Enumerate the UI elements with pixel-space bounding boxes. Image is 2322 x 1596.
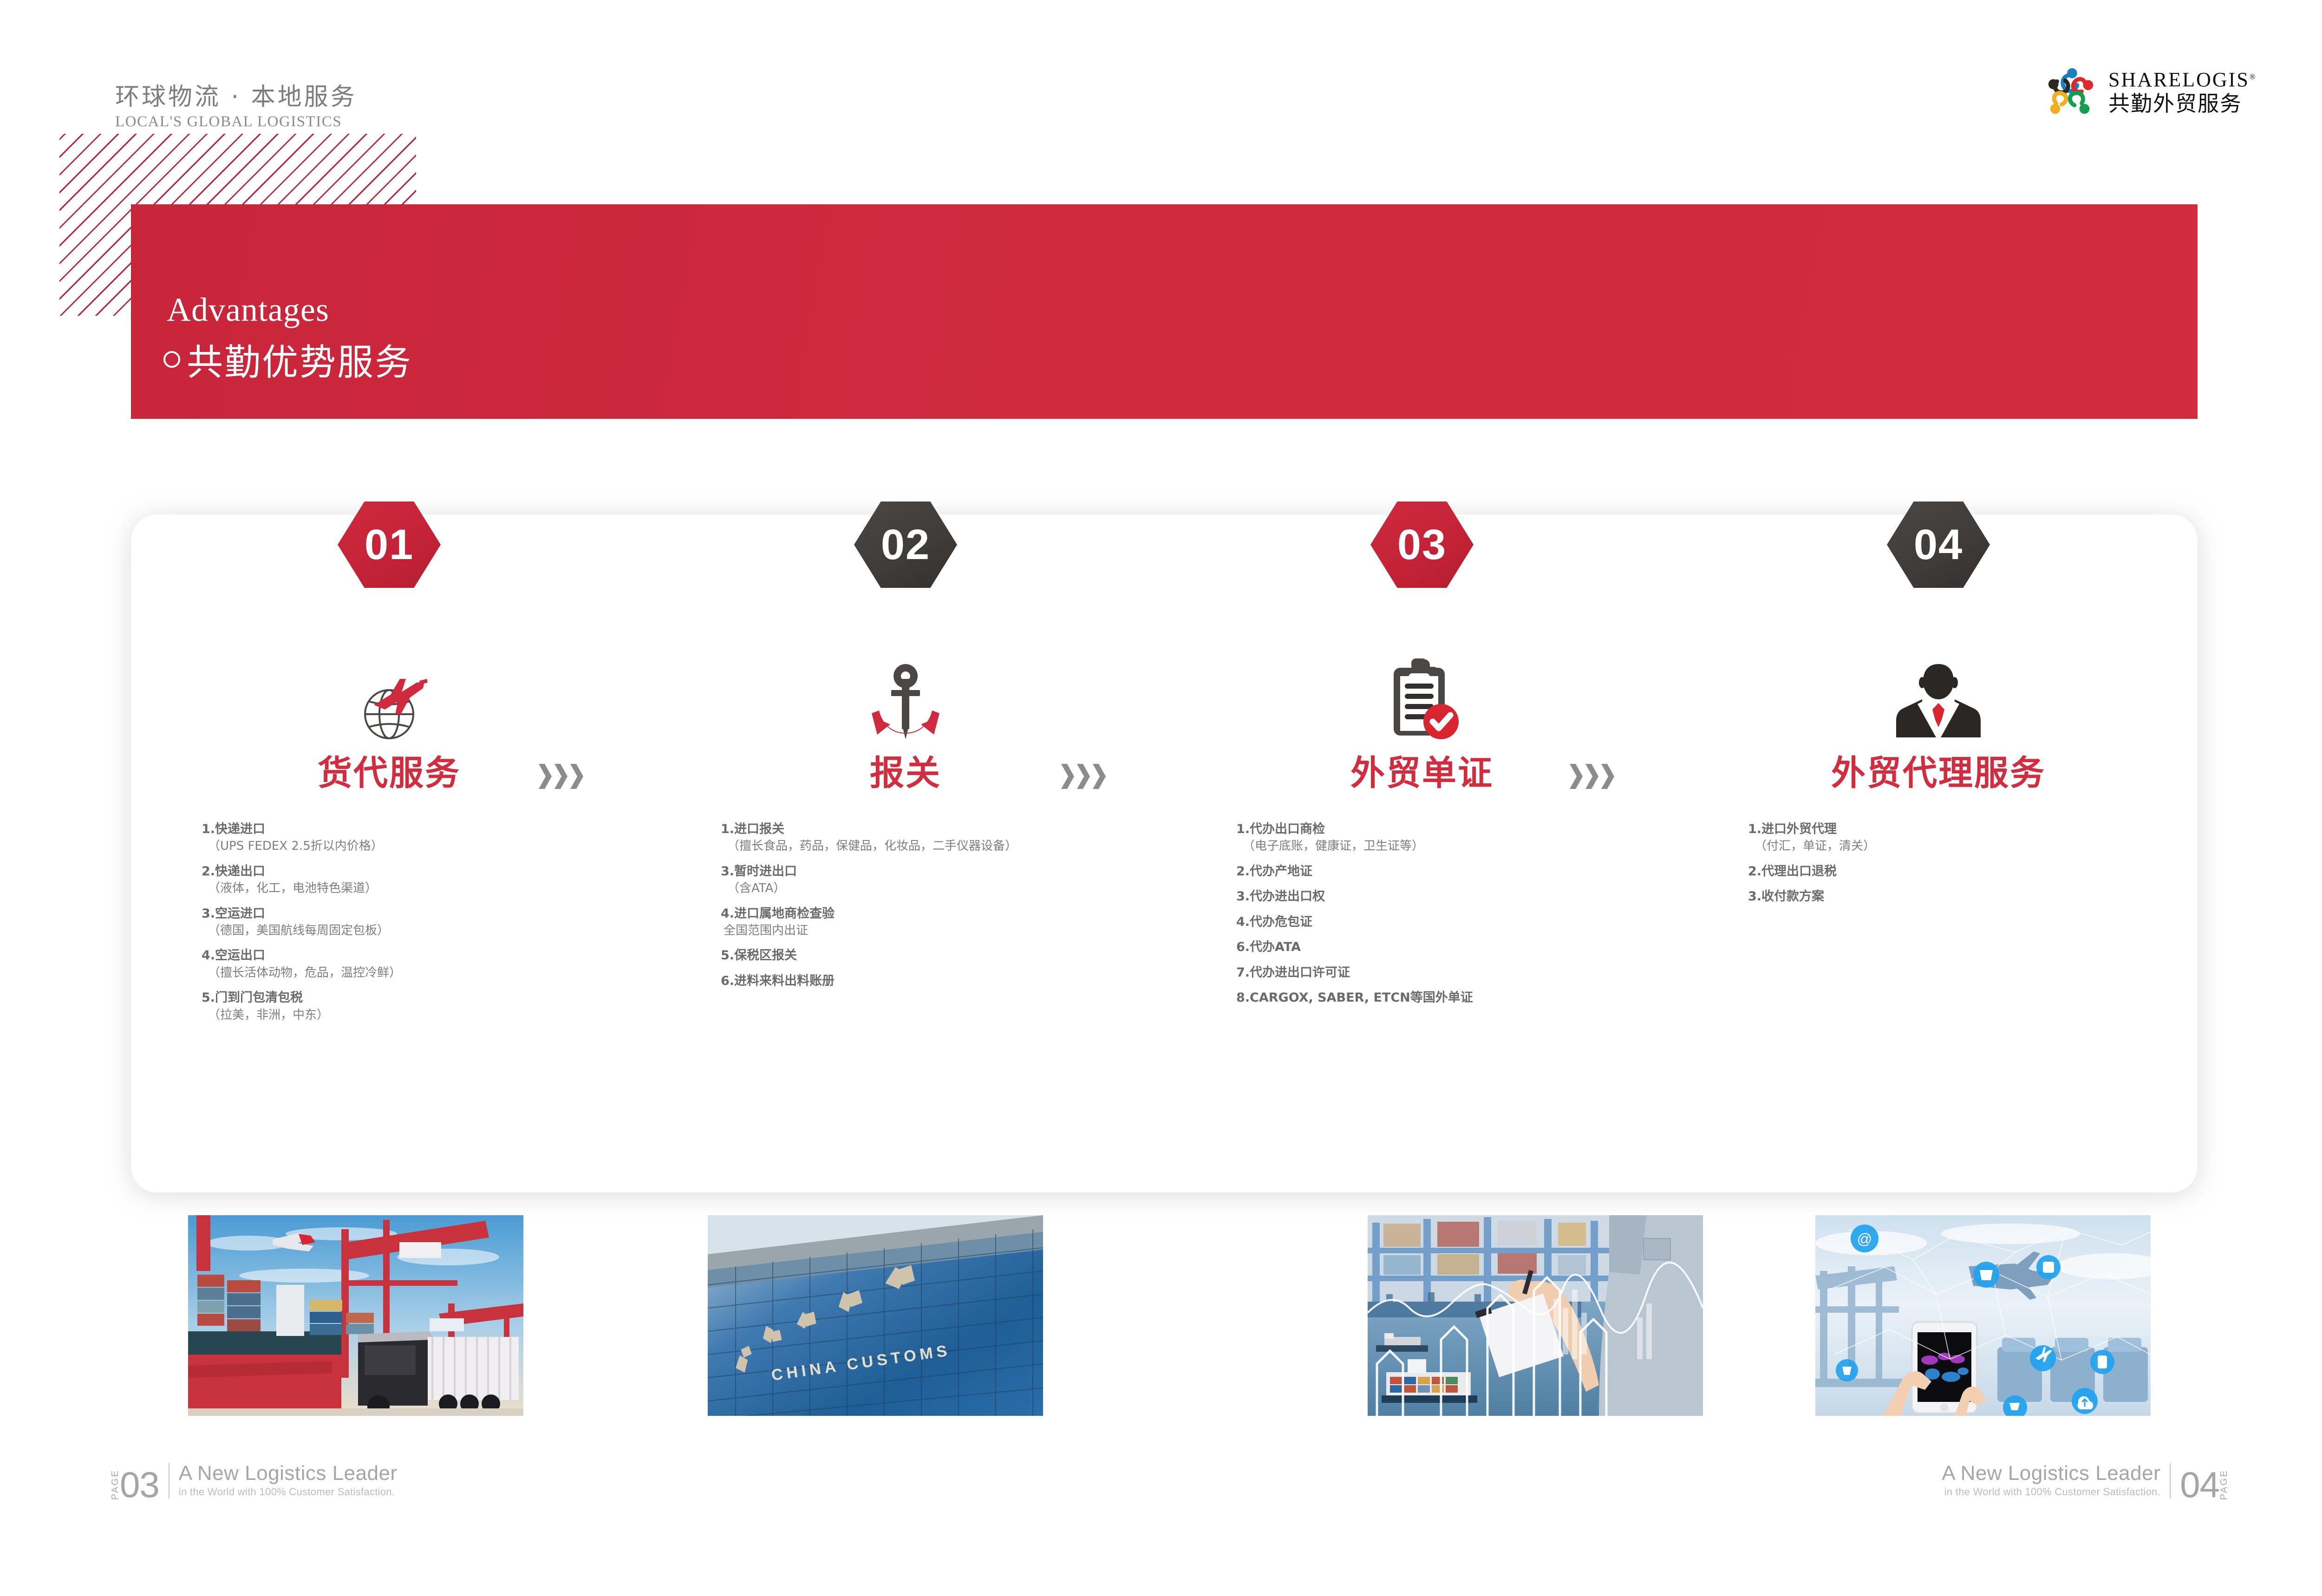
list-item: 4.空运出口 （擅长活体动物，危品，温控冷鲜） [202,947,647,981]
column-bullets-2: 1.进口报关 （擅长食品，药品，保健品，化妆品，二手仪器设备） 3.暂时进出口 … [647,821,1164,990]
list-item: 1.进口外贸代理 （付汇，单证，清关） [1748,821,2197,855]
bullet-main: 2.快递出口 [202,863,647,880]
list-item: 1.快递进口 （UPS FEDEX 2.5折以内价格） [202,821,647,855]
bullet-main: 4.空运出口 [202,947,647,964]
chevron-right-icon [554,764,567,789]
footer-slogan-line2-right: in the World with 100% Customer Satisfac… [1942,1486,2160,1498]
list-item: 7.代办进出口许可证 [1236,964,1680,981]
header-tagline: 环球物流 · 本地服务 LOCAL'S GLOBAL LOGISTICS [115,84,357,130]
chevron-right-icon [1601,764,1614,789]
step-badge-wrap-4: 04 [1680,502,2197,608]
list-item: 3.代办进出口权 [1236,888,1680,905]
footer-slogan-right: A New Logistics Leader in the World with… [1942,1463,2160,1500]
footer-page-number-left: 03 [120,1469,159,1500]
advantage-column-3: 03 [1164,502,1680,1015]
airplane-globe-icon [345,655,433,743]
chevron-right-icon [570,764,583,789]
bullet-main: 1.代办出口商检 [1236,821,1680,838]
bullet-sub: （擅长食品，药品，保健品，化妆品，二手仪器设备） [721,838,1164,854]
column-icon-1 [131,645,647,743]
step-badge-1[interactable]: 01 [338,502,441,588]
bullet-main: 4.代办危包证 [1236,914,1680,931]
bullet-main: 2.代理出口退税 [1748,863,2197,880]
anchor-icon [861,655,950,743]
list-item: 4.代办危包证 [1236,914,1680,931]
advantage-column-4: 04 外贸代理服务 1.进口外贸代理 （付汇，单证，清关） [1680,502,2197,914]
footer-slogan-left: A New Logistics Leader in the World with… [179,1463,398,1500]
list-item: 3.暂时进出口 （含ATA） [721,863,1164,897]
step-badge-wrap-3: 03 [1164,502,1680,608]
bullet-sub: （拉美，非洲，中东） [202,1007,647,1023]
list-item: 5.门到门包清包税 （拉美，非洲，中东） [202,990,647,1023]
footer-left: PAGE 03 A New Logistics Leader in the Wo… [111,1463,398,1500]
list-item: 2.代办产地证 [1236,863,1680,880]
businessman-icon [1894,655,1983,743]
step-number-2: 02 [881,523,930,566]
section-banner: Advantages 共勤优势服务 [131,204,2198,419]
step-number-4: 04 [1914,523,1963,566]
logo-brand-cn: 共勤外贸服务 [2108,92,2257,116]
bullet-main: 4.进口属地商检查验 [721,905,1164,922]
header-tagline-en: LOCAL'S GLOBAL LOGISTICS [115,113,357,130]
column-icon-4 [1680,645,2197,743]
step-badge-3[interactable]: 03 [1370,502,1474,588]
list-item: 3.空运进口 （德国，美国航线每周固定包板） [202,905,647,939]
list-item: 4.进口属地商检查验 全国范围内出证 [721,905,1164,939]
bullet-sub: （擅长活体动物，危品，温控冷鲜） [202,964,647,981]
bullet-sub: 全国范围内出证 [721,922,1164,939]
footer-right: A New Logistics Leader in the World with… [1942,1463,2229,1500]
banner-title-cn: 共勤优势服务 [187,333,412,385]
bullet-main: 5.门到门包清包税 [202,990,647,1006]
at-sign-icon: @ [1857,1231,1872,1247]
bullet-main: 6.进料来料出料账册 [721,973,1164,990]
step-number-3: 03 [1397,523,1447,566]
step-badge-4[interactable]: 04 [1887,502,1990,588]
registered-mark-icon: ® [2250,72,2257,81]
step-badge-2[interactable]: 02 [854,502,957,588]
footer-page-number-right: 04 [2180,1469,2219,1500]
list-item: 5.保税区报关 [721,947,1164,964]
footer-slogan-line1-right: A New Logistics Leader [1942,1463,2160,1484]
bullet-main: 3.暂时进出口 [721,863,1164,880]
bullet-sub: （电子底账，健康证，卫生证等） [1236,838,1680,854]
bullet-main: 3.空运进口 [202,905,647,922]
bullet-main: 6.代办ATA [1236,939,1680,956]
advantage-columns: 01 货代服务 1.快递进口 （UPS [131,502,2198,1244]
footer-divider-left [169,1463,170,1498]
sharelogis-people-circle-icon [2043,65,2098,120]
list-item: 2.代理出口退税 [1748,863,2197,880]
step-number-1: 01 [365,523,414,566]
column-bullets-3: 1.代办出口商检 （电子底账，健康证，卫生证等） 2.代办产地证 3.代办进出口… [1164,821,1680,1006]
list-item: 1.进口报关 （擅长食品，药品，保健品，化妆品，二手仪器设备） [721,821,1164,855]
photo-china-customs-building: CHINA CUSTOMS [708,1215,1043,1416]
footer-slogan-line2-left: in the World with 100% Customer Satisfac… [179,1486,398,1498]
header-tagline-cn: 环球物流 · 本地服务 [115,84,357,111]
brand-logo: SHARELOGIS® 共勤外贸服务 [2043,65,2257,120]
bullet-sub: （付汇，单证，清关） [1748,838,2197,854]
bullet-main: 8.CARGOX, SABER, ETCN等国外单证 [1236,990,1680,1006]
column-title-4: 外贸代理服务 [1680,756,2197,790]
bullet-main: 2.代办产地证 [1236,863,1680,880]
bullet-main: 1.进口报关 [721,821,1164,838]
chevron-right-icon [539,764,552,789]
clipboard-check-icon [1378,655,1466,743]
step-badge-wrap-2: 02 [647,502,1164,608]
bullet-main: 5.保税区报关 [721,947,1164,964]
step-badge-wrap-1: 01 [131,502,647,608]
banner-title-cn-row: 共勤优势服务 [163,333,412,385]
banner-title-en: Advantages [167,291,329,329]
bullet-main: 3.收付款方案 [1748,888,2197,905]
circle-bullet-icon [163,351,180,368]
bullet-sub: （德国，美国航线每周固定包板） [202,922,647,939]
chevron-right-icon [1585,764,1598,789]
chevron-separator-1-2 [539,764,583,789]
chevron-right-icon [1077,764,1090,789]
list-item: 1.代办出口商检 （电子底账，健康证，卫生证等） [1236,821,1680,855]
chevron-right-icon [1061,764,1074,789]
bullet-sub: （UPS FEDEX 2.5折以内价格） [202,838,647,854]
logo-brand-en: SHARELOGIS® [2108,70,2257,90]
column-icon-2 [647,645,1164,743]
bullet-sub: （含ATA） [721,880,1164,897]
column-icon-3 [1164,645,1680,743]
bullet-main: 1.进口外贸代理 [1748,821,2197,838]
list-item: 2.快递出口 （液体，化工，电池特色渠道） [202,863,647,897]
chevron-separator-3-4 [1570,764,1614,789]
column-bullets-4: 1.进口外贸代理 （付汇，单证，清关） 2.代理出口退税 3.收付款方案 [1680,821,2197,905]
advantage-column-2: 02 报关 1.进口报关 （擅长食品，药品，保健品，化妆品，二手仪器设备） [647,502,1164,998]
bullet-sub: （液体，化工，电池特色渠道） [202,880,647,897]
chevron-right-icon [1093,764,1106,789]
photo-digital-logistics-tablet: @ [1815,1215,2151,1416]
photo-inspector-clipboard-port [1368,1215,1703,1416]
chevron-separator-2-3 [1061,764,1106,789]
list-item: 8.CARGOX, SABER, ETCN等国外单证 [1236,990,1680,1006]
bullet-main: 1.快递进口 [202,821,647,838]
photo-port-crane-truck [188,1215,523,1416]
list-item: 6.进料来料出料账册 [721,973,1164,990]
bullet-main: 3.代办进出口权 [1236,888,1680,905]
list-item: 3.收付款方案 [1748,888,2197,905]
chevron-right-icon [1570,764,1583,789]
footer-divider-right [2170,1463,2171,1498]
footer-slogan-line1-left: A New Logistics Leader [179,1463,398,1484]
column-bullets-1: 1.快递进口 （UPS FEDEX 2.5折以内价格） 2.快递出口 （液体，化… [131,821,647,1023]
bullet-main: 7.代办进出口许可证 [1236,964,1680,981]
list-item: 6.代办ATA [1236,939,1680,956]
footer-page-label-right: PAGE [2219,1467,2229,1500]
footer-page-label-left: PAGE [111,1467,120,1500]
